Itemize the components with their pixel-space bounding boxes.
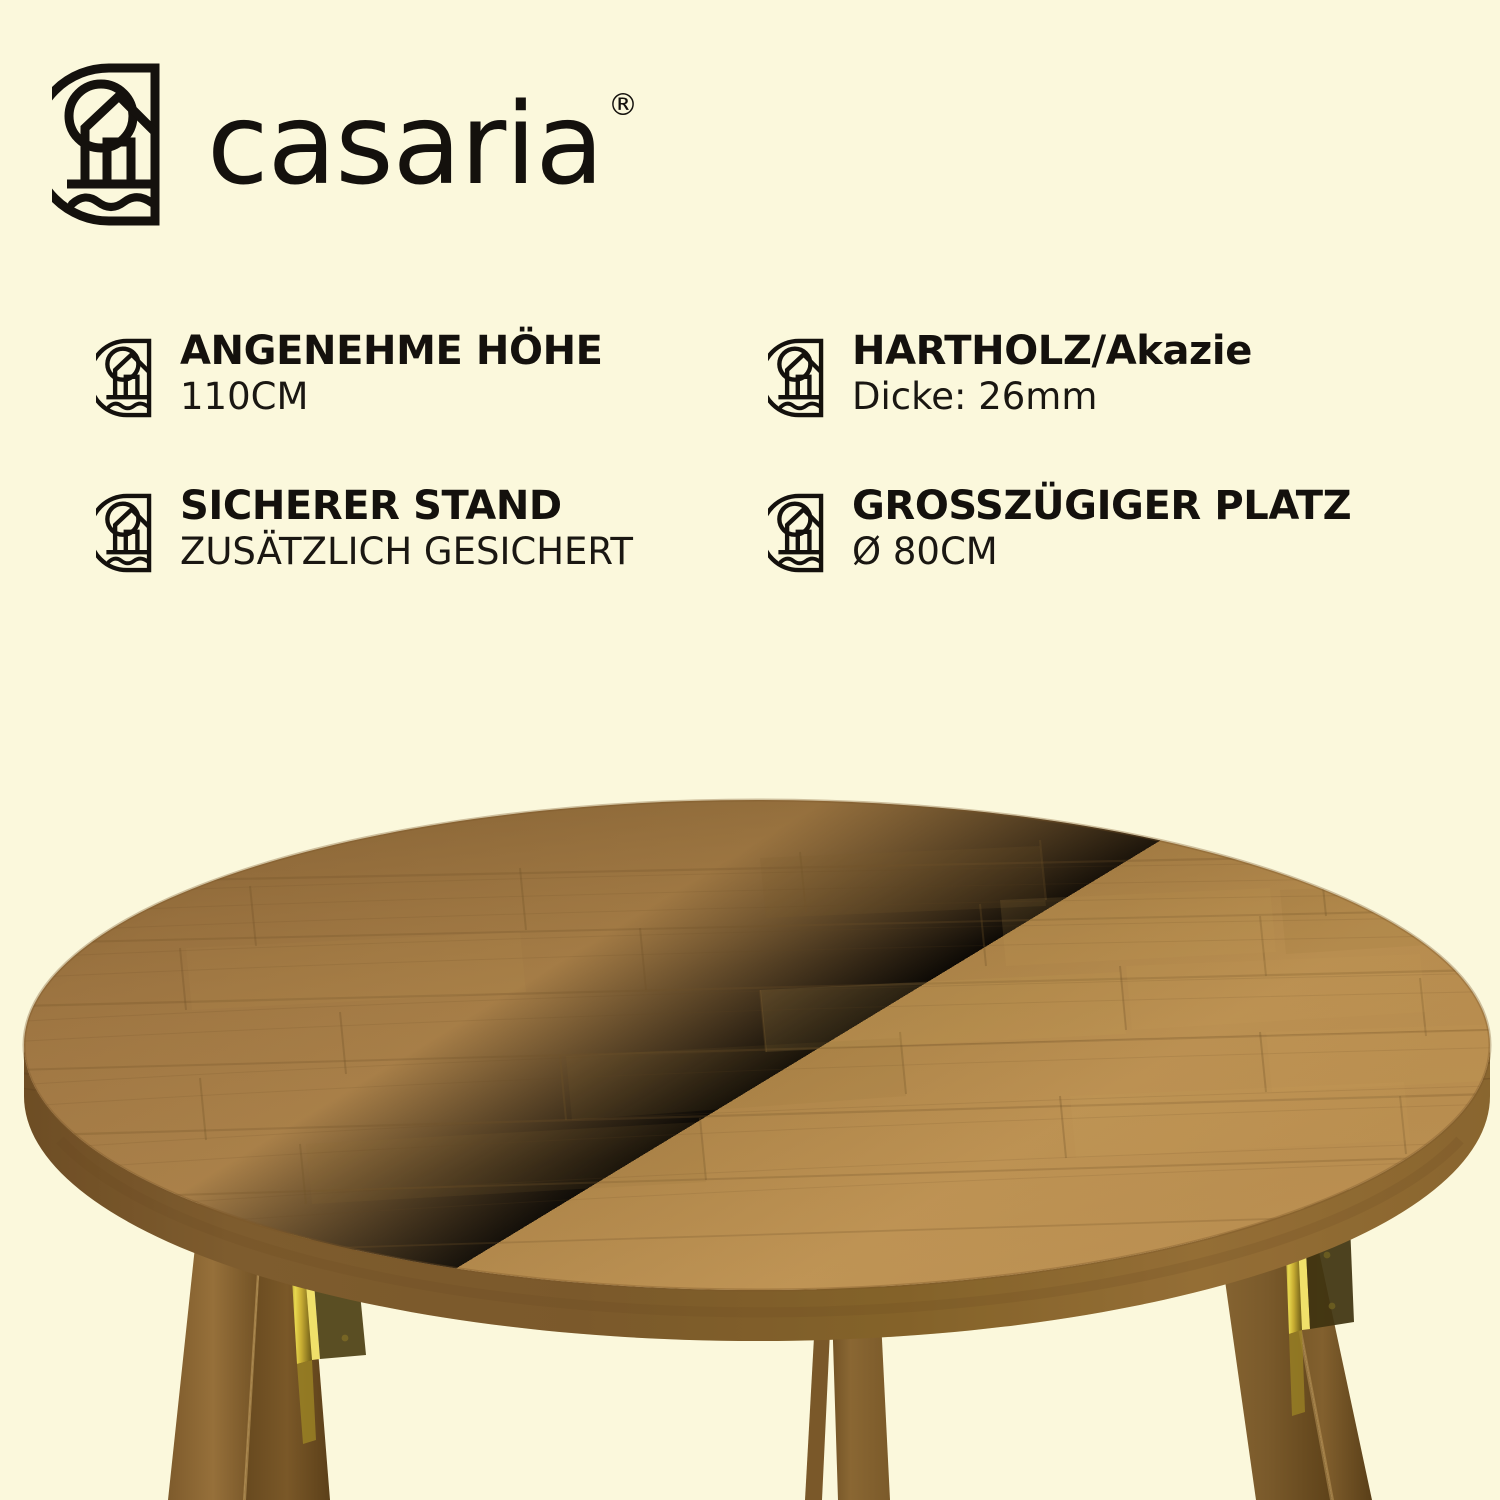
product-marketing-image: casaria ® ANGENEHME HÖHE 110CM [0, 0, 1500, 1500]
feature-text: HARTHOLZ/Akazie Dicke: 26mm [852, 330, 1252, 420]
casaria-landscape-house-icon [96, 338, 158, 423]
feature-subtitle: Dicke: 26mm [852, 375, 1252, 419]
feature-item-height: ANGENEHME HÖHE 110CM [96, 330, 768, 485]
feature-text: ANGENEHME HÖHE 110CM [180, 330, 603, 420]
feature-subtitle: Ø 80CM [852, 530, 1351, 574]
feature-title: ANGENEHME HÖHE [180, 330, 603, 372]
casaria-landscape-house-icon [768, 493, 830, 578]
feature-item-surface: GROSSZÜGIGER PLATZ Ø 80CM [768, 485, 1428, 640]
brand-logo: casaria ® [52, 62, 603, 227]
feature-list: ANGENEHME HÖHE 110CM HARTHOLZ/Akazie Dic… [96, 330, 1426, 640]
casaria-landscape-house-icon [96, 493, 158, 578]
registered-trademark-icon: ® [608, 91, 637, 121]
feature-title: SICHERER STAND [180, 485, 633, 527]
feature-title: HARTHOLZ/Akazie [852, 330, 1252, 372]
feature-text: SICHERER STAND ZUSÄTZLICH GESICHERT [180, 485, 633, 575]
product-photo-round-acacia-bar-table [0, 740, 1500, 1500]
casaria-landscape-house-icon [768, 338, 830, 423]
casaria-landscape-house-icon [52, 62, 167, 227]
feature-subtitle: 110CM [180, 375, 603, 419]
brand-name: casaria [207, 80, 603, 210]
feature-item-material: HARTHOLZ/Akazie Dicke: 26mm [768, 330, 1428, 485]
brand-wordmark: casaria ® [207, 89, 603, 201]
feature-item-stability: SICHERER STAND ZUSÄTZLICH GESICHERT [96, 485, 768, 640]
feature-text: GROSSZÜGIGER PLATZ Ø 80CM [852, 485, 1351, 575]
feature-title: GROSSZÜGIGER PLATZ [852, 485, 1351, 527]
feature-subtitle: ZUSÄTZLICH GESICHERT [180, 530, 633, 574]
